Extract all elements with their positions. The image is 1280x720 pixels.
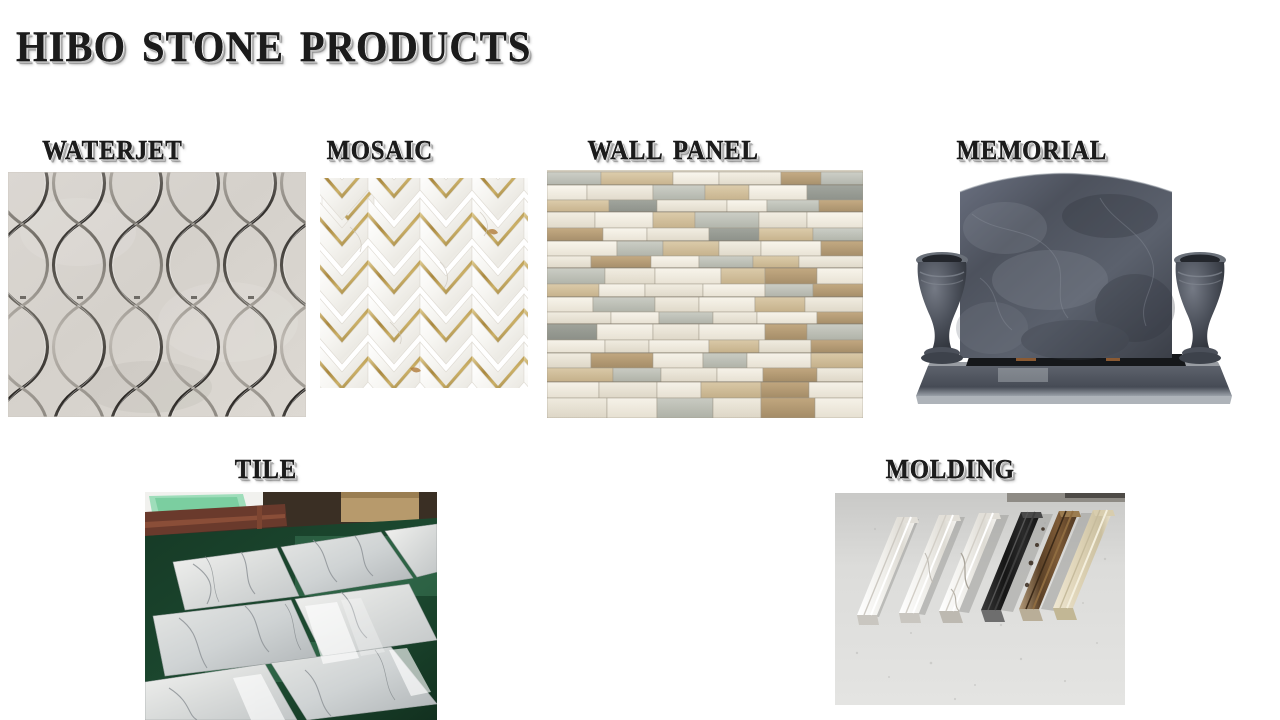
product-image-memorial xyxy=(900,168,1248,418)
product-image-wall-panel xyxy=(547,170,863,418)
product-label-tile: Tile xyxy=(235,447,297,485)
product-image-waterjet xyxy=(8,172,306,417)
product-image-tile xyxy=(145,492,437,720)
product-image-molding xyxy=(835,493,1125,705)
product-label-wall-panel: Wall Panel xyxy=(587,128,758,166)
product-label-molding: Molding xyxy=(886,447,1015,485)
product-label-waterjet: Waterjet xyxy=(42,128,182,166)
product-label-mosaic: Mosaic xyxy=(327,128,433,166)
product-label-memorial: Memorial xyxy=(957,128,1107,166)
page-title: Hibo Stone Products xyxy=(16,10,531,72)
product-image-mosaic xyxy=(320,172,528,394)
product-showcase-slide: Hibo Stone Products Waterjet Mosaic Wall… xyxy=(0,0,1280,720)
